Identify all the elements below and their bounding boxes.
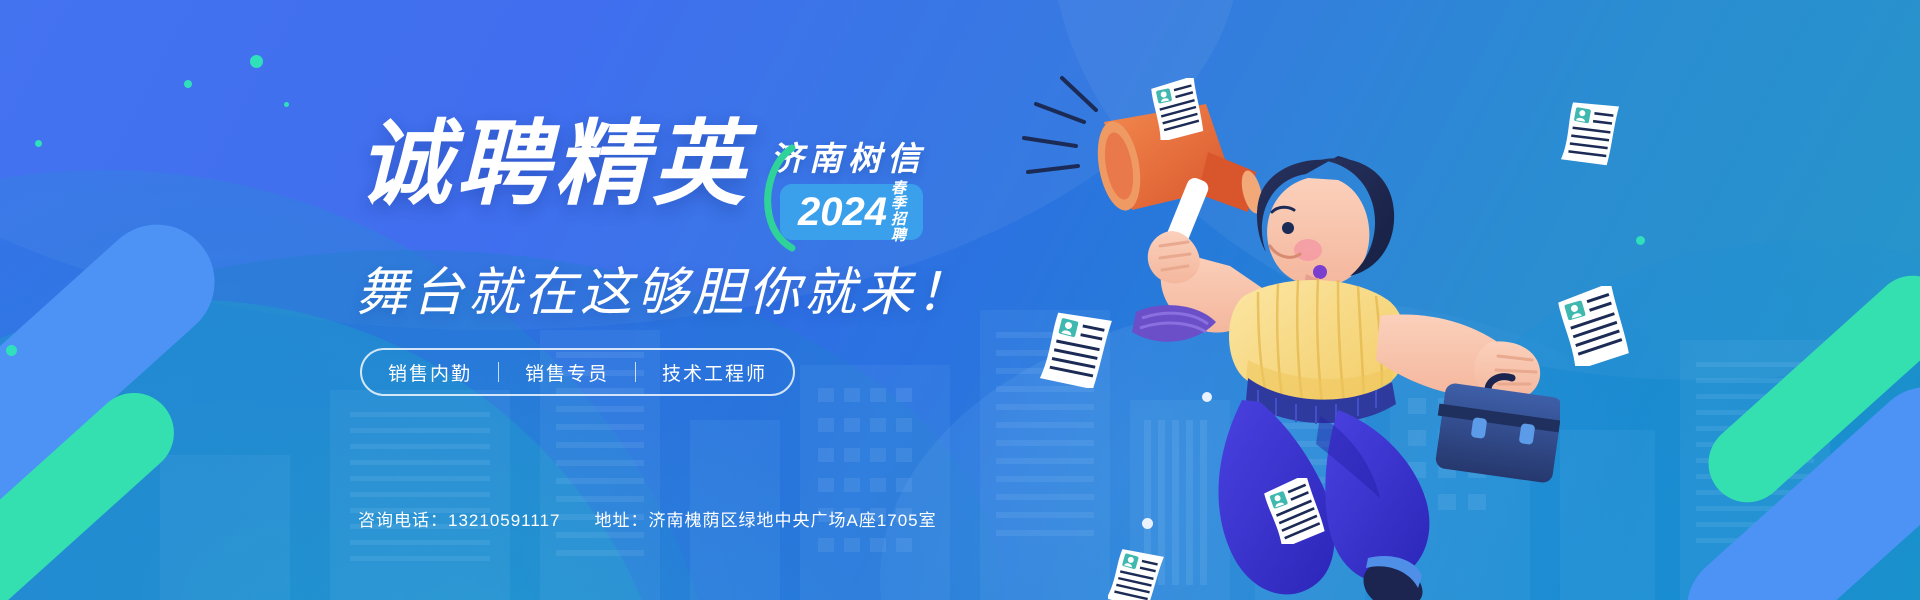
- resume-document-6: [1108, 548, 1164, 600]
- page-title: 诚聘精英: [358, 118, 750, 211]
- badge-subtitle: 春季 招聘: [891, 181, 907, 244]
- contact-address: 地址：济南槐荫区绿地中央广场A座1705室: [594, 506, 936, 531]
- contact-phone: 咨询电话：13210591117: [358, 506, 560, 531]
- badge-sub-line2: 招聘: [891, 212, 907, 244]
- resume-icon: [1556, 286, 1630, 366]
- briefcase-icon: [1435, 377, 1560, 484]
- dot-teal-1: [250, 55, 263, 68]
- dot-teal-6: [1636, 236, 1645, 245]
- sound-lines-icon: [1024, 78, 1096, 172]
- position-item-2: 技术工程师: [662, 359, 767, 386]
- dot-teal-4: [35, 140, 42, 147]
- resume-icon: [1040, 310, 1112, 388]
- badge-sub-line1: 春季: [891, 181, 907, 213]
- badge-body: 2024 春季 招聘: [780, 184, 923, 240]
- dot-teal-5: [6, 345, 17, 356]
- dot-teal-2: [184, 80, 192, 88]
- badge-year: 2024: [798, 192, 887, 232]
- contact-info: 咨询电话：13210591117 地址：济南槐荫区绿地中央广场A座1705室: [358, 506, 937, 531]
- page-subtitle: 舞台就在这够胆你就来！: [356, 250, 972, 325]
- resume-document-5: [1264, 478, 1326, 549]
- position-item-0: 销售内勤: [388, 359, 472, 386]
- resume-icon: [1560, 100, 1622, 166]
- resume-document-4: [1560, 100, 1622, 171]
- resume-document-1: [1148, 78, 1206, 145]
- resume-icon: [1148, 78, 1206, 140]
- positions-pill: 销售内勤 销售专员 技术工程师: [360, 348, 795, 396]
- resume-icon: [1108, 548, 1164, 600]
- dot-teal-3: [284, 102, 289, 107]
- resume-document-3: [1556, 286, 1630, 371]
- position-separator-1: [635, 362, 636, 382]
- recruitment-banner: 诚聘精英 济南树信 2024 春季 招聘 舞台就在这够胆你就来！ 销售内勤 销售…: [0, 0, 1920, 600]
- resume-icon: [1264, 478, 1326, 544]
- head: [1257, 156, 1394, 287]
- position-item-1: 销售专员: [525, 359, 609, 386]
- position-separator-0: [498, 362, 499, 382]
- resume-document-2: [1040, 310, 1112, 393]
